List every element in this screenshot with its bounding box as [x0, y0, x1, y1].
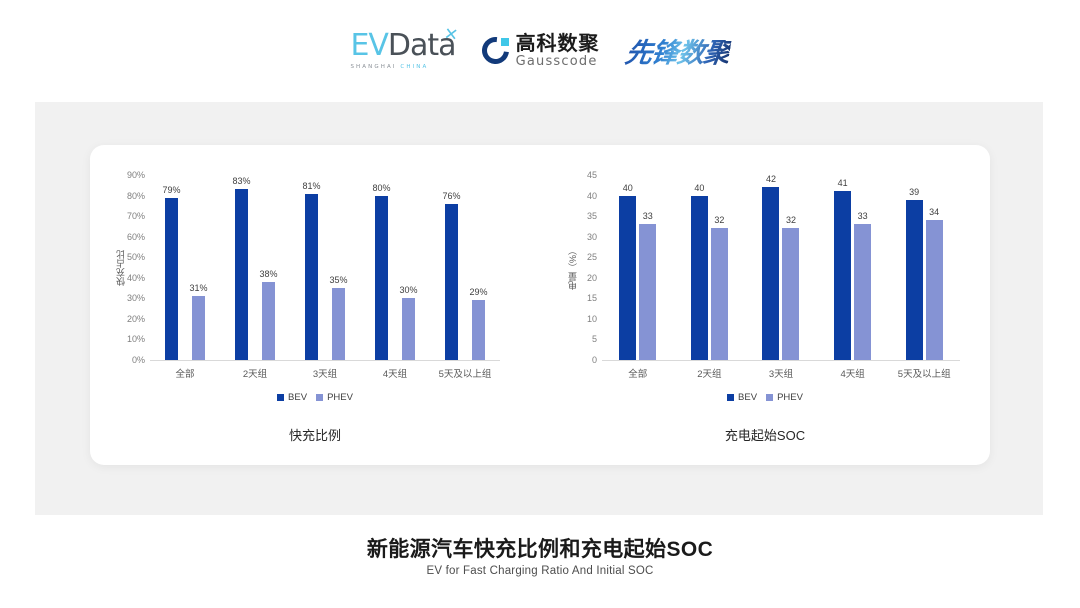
y-axis-tick-label: 60% [127, 232, 145, 242]
bar-bev: 39 [906, 200, 923, 360]
bar-group: 79%31%全部 [150, 175, 220, 360]
bar-group: 83%38%2天组 [220, 175, 290, 360]
y-axis-tick-label: 10 [587, 314, 597, 324]
legend-label: BEV [288, 392, 307, 403]
legend-label: BEV [738, 392, 757, 403]
legend-swatch-icon [316, 394, 323, 401]
x-axis-tick-label: 全部 [602, 366, 674, 380]
bar-value-label: 41 [838, 178, 848, 188]
bar-phev: 31% [192, 296, 205, 360]
y-axis-title: 快充占比 [114, 250, 127, 286]
gausscode-mark-icon [482, 37, 509, 64]
gausscode-logo: 高科数聚 Gausscode [482, 33, 600, 68]
legend-item-phev[interactable]: PHEV [766, 392, 803, 403]
page-title: 新能源汽车快充比例和充电起始SOC [0, 533, 1080, 563]
bar-value-label: 34 [929, 207, 939, 217]
evdata-logo: EV Data ✕ SHANGHAI CHINA [350, 31, 455, 70]
bar-value-label: 79% [162, 185, 180, 195]
y-axis-tick-label: 20% [127, 314, 145, 324]
x-axis-tick-label: 5天及以上组 [430, 366, 500, 380]
bar-phev: 30% [402, 298, 415, 360]
bar-bev: 40 [619, 196, 636, 360]
x-axis-tick-label: 3天组 [745, 366, 817, 380]
legend-swatch-icon [277, 394, 284, 401]
y-axis-tick-label: 5 [592, 334, 597, 344]
bar-bev: 76% [445, 204, 458, 360]
bar-group: 42323天组 [745, 175, 817, 360]
evdata-wordmark: EV Data ✕ [350, 31, 455, 61]
x-axis-tick-label: 全部 [150, 366, 220, 380]
bar-phev: 35% [332, 288, 345, 360]
y-axis-tick-label: 30% [127, 293, 145, 303]
bar-group: 40322天组 [674, 175, 746, 360]
evdata-tagline: SHANGHAI CHINA [350, 64, 428, 70]
gausscode-square-icon [501, 38, 509, 46]
legend-label: PHEV [777, 392, 803, 403]
y-axis-tick-label: 35 [587, 211, 597, 221]
y-axis-tick-label: 45 [587, 170, 597, 180]
bar-bev: 42 [762, 187, 779, 360]
bar-value-label: 40 [694, 183, 704, 193]
x-axis-tick-label: 2天组 [220, 366, 290, 380]
legend-swatch-icon [766, 394, 773, 401]
bar-group: 41334天组 [817, 175, 889, 360]
bar-value-label: 33 [858, 211, 868, 221]
y-axis-tick-label: 80% [127, 191, 145, 201]
x-axis-tick-label: 3天组 [290, 366, 360, 380]
bar-value-label: 35% [329, 275, 347, 285]
chart-caption: 充电起始SOC [540, 425, 990, 444]
x-axis-tick-label: 5天及以上组 [888, 366, 960, 380]
chart-legend: BEVPHEV [540, 392, 990, 403]
y-axis-tick-label: 30 [587, 232, 597, 242]
bar-value-label: 29% [469, 287, 487, 297]
bar-value-label: 76% [442, 191, 460, 201]
page-subtitle: EV for Fast Charging Ratio And Initial S… [0, 565, 1080, 577]
bar-bev: 41 [834, 191, 851, 360]
bar-phev: 33 [639, 224, 656, 360]
bar-group: 76%29%5天及以上组 [430, 175, 500, 360]
chart-initial-soc: 电量（%）0510152025303540454033全部40322天组4232… [540, 145, 990, 465]
bar-bev: 79% [165, 198, 178, 360]
y-axis-tick-label: 25 [587, 252, 597, 262]
evdata-tagline-city: SHANGHAI [350, 64, 400, 70]
bar-bev: 83% [235, 189, 248, 360]
bar-phev: 29% [472, 300, 485, 360]
y-axis-title: 电量（%） [566, 245, 579, 289]
gausscode-wordmark: 高科数聚 Gausscode [516, 33, 600, 68]
chart-legend: BEVPHEV [90, 392, 540, 403]
gausscode-en-text: Gausscode [516, 55, 600, 68]
bar-value-label: 30% [399, 285, 417, 295]
legend-item-phev[interactable]: PHEV [316, 392, 353, 403]
plot-area: 0510152025303540454033全部40322天组42323天组41… [602, 175, 960, 361]
bar-value-label: 81% [302, 181, 320, 191]
x-axis-tick-label: 4天组 [817, 366, 889, 380]
evdata-ev-text: EV [350, 31, 387, 61]
evdata-tagline-country: CHINA [400, 64, 428, 70]
charts-row: 快充占比0%10%20%30%40%50%60%70%80%90%79%31%全… [90, 145, 990, 465]
x-axis-tick-label: 4天组 [360, 366, 430, 380]
y-axis-tick-label: 0% [132, 355, 145, 365]
bar-bev: 81% [305, 194, 318, 361]
xianfeng-cn-text: 先锋数聚 [622, 31, 732, 70]
bar-bev: 80% [375, 196, 388, 360]
legend-item-bev[interactable]: BEV [277, 392, 307, 403]
legend-item-bev[interactable]: BEV [727, 392, 757, 403]
y-axis-tick-label: 10% [127, 334, 145, 344]
gausscode-cn-text: 高科数聚 [516, 33, 600, 53]
y-axis-tick-label: 15 [587, 293, 597, 303]
bar-value-label: 38% [259, 269, 277, 279]
y-axis-tick-label: 70% [127, 211, 145, 221]
logo-bar: EV Data ✕ SHANGHAI CHINA 高科数聚 Gausscode … [0, 22, 1080, 78]
bar-group: 81%35%3天组 [290, 175, 360, 360]
y-axis-tick-label: 50% [127, 252, 145, 262]
bar-phev: 34 [926, 220, 943, 360]
evdata-x-icon: ✕ [443, 25, 459, 44]
bar-value-label: 83% [232, 176, 250, 186]
bar-phev: 32 [782, 228, 799, 360]
bar-group: 80%30%4天组 [360, 175, 430, 360]
bar-phev: 32 [711, 228, 728, 360]
x-axis-tick-label: 2天组 [674, 366, 746, 380]
bar-value-label: 32 [786, 215, 796, 225]
chart-fast-charging-ratio: 快充占比0%10%20%30%40%50%60%70%80%90%79%31%全… [90, 145, 540, 465]
plot-area: 0%10%20%30%40%50%60%70%80%90%79%31%全部83%… [150, 175, 500, 361]
bar-value-label: 31% [189, 283, 207, 293]
bar-value-label: 33 [643, 211, 653, 221]
y-axis-tick-label: 40 [587, 191, 597, 201]
bar-value-label: 32 [714, 215, 724, 225]
charts-card: 快充占比0%10%20%30%40%50%60%70%80%90%79%31%全… [90, 145, 990, 465]
bar-phev: 38% [262, 282, 275, 360]
bar-group: 39345天及以上组 [888, 175, 960, 360]
bar-group: 4033全部 [602, 175, 674, 360]
bar-value-label: 80% [372, 183, 390, 193]
xianfeng-logo: 先锋数聚 [626, 31, 730, 70]
bar-value-label: 39 [909, 187, 919, 197]
bar-value-label: 40 [623, 183, 633, 193]
y-axis-tick-label: 40% [127, 273, 145, 283]
y-axis-tick-label: 20 [587, 273, 597, 283]
chart-caption: 快充比例 [90, 425, 540, 444]
bar-bev: 40 [691, 196, 708, 360]
bar-value-label: 42 [766, 174, 776, 184]
y-axis-tick-label: 90% [127, 170, 145, 180]
legend-label: PHEV [327, 392, 353, 403]
y-axis-tick-label: 0 [592, 355, 597, 365]
bar-phev: 33 [854, 224, 871, 360]
legend-swatch-icon [727, 394, 734, 401]
